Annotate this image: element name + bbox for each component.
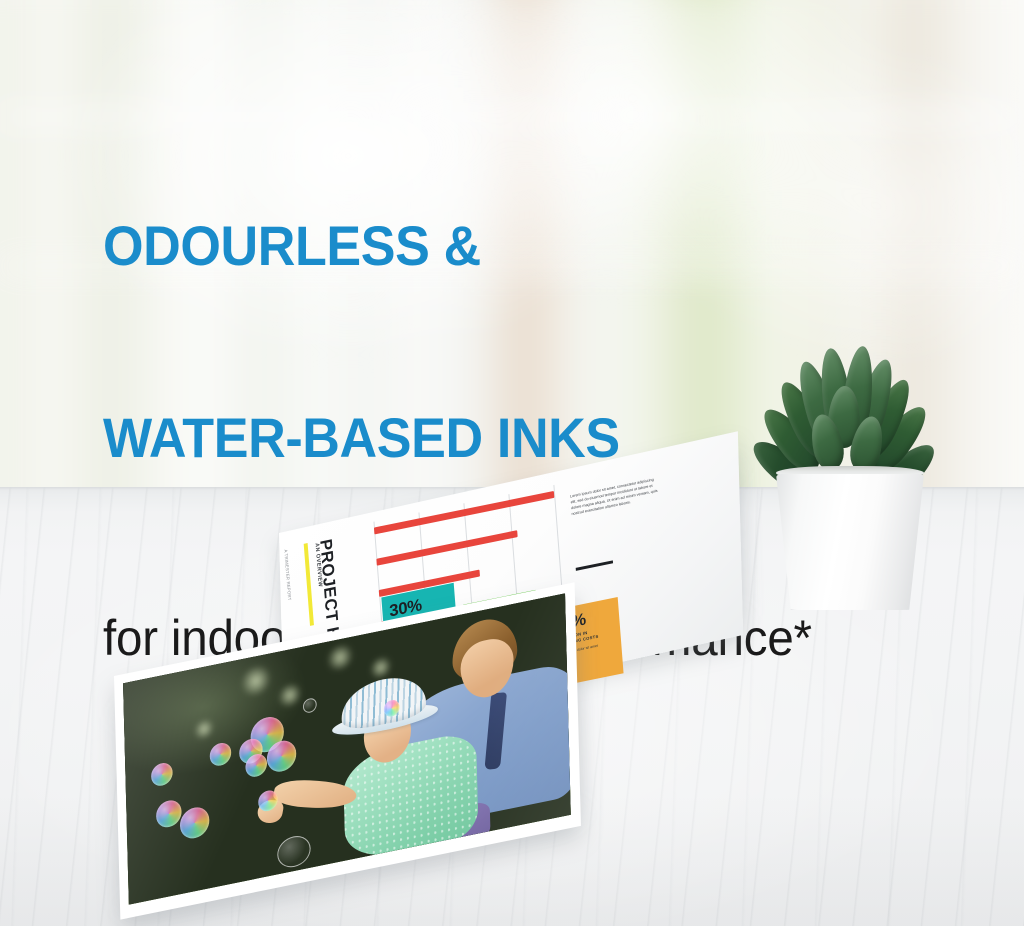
bokeh-light [325,642,355,672]
document-kicker: A TRIMESTER REPORT [283,549,294,628]
bokeh-light [277,682,303,710]
black-rule [576,560,613,570]
child-figure [306,657,497,878]
headline-line-1: ODOURLESS & [103,214,921,278]
bokeh-light [193,718,215,741]
soap-bubble [209,741,231,768]
soap-bubble [180,805,210,841]
plant-pot [776,474,924,610]
child-hat [341,671,426,733]
document-body-text: Lorem ipsum dolor sit amet, consectetur … [570,475,662,517]
bokeh-light [239,663,273,698]
soap-bubble [151,761,173,788]
marketing-banner: ODOURLESS & WATER-BASED INKS for indoor … [0,0,1024,926]
child-shirt [343,730,479,863]
succulent-plant [760,340,940,610]
soap-bubble [156,798,182,830]
soap-bubble [277,833,311,870]
yellow-accent-rule [304,543,314,626]
bokeh-light [369,655,393,680]
chart-bar [376,530,517,565]
